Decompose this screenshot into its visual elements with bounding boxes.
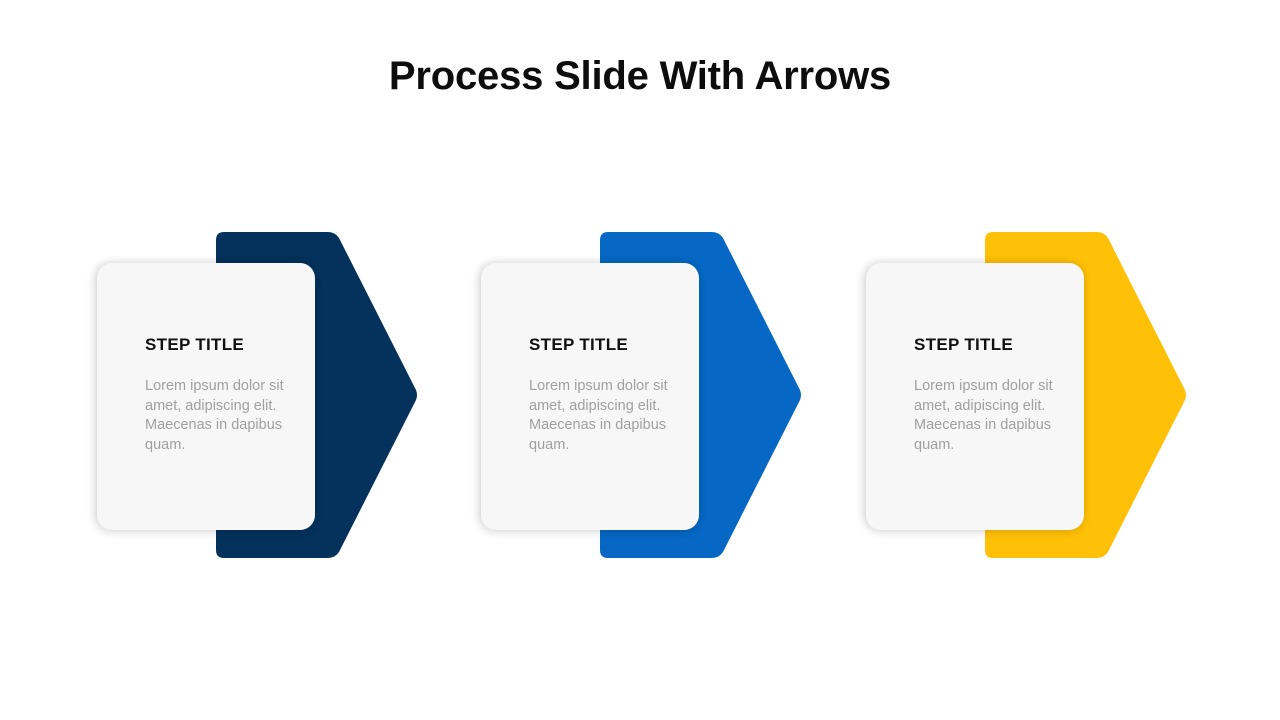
process-steps-group: 01 STEP TITLE Lorem ipsum dolor sit amet… <box>0 0 1280 720</box>
card-content-3: STEP TITLE Lorem ipsum dolor sit amet, a… <box>914 335 1074 455</box>
card-title-1: STEP TITLE <box>145 335 305 355</box>
card-title-2: STEP TITLE <box>529 335 689 355</box>
process-step-3[interactable]: 03 STEP TITLE Lorem ipsum dolor sit amet… <box>769 0 1189 720</box>
step-card-3[interactable]: STEP TITLE Lorem ipsum dolor sit amet, a… <box>866 263 1084 530</box>
process-step-2[interactable]: 02 STEP TITLE Lorem ipsum dolor sit amet… <box>384 0 804 720</box>
card-body-2: Lorem ipsum dolor sit amet, adipiscing e… <box>529 377 677 455</box>
step-card-2[interactable]: STEP TITLE Lorem ipsum dolor sit amet, a… <box>481 263 699 530</box>
step-card-1[interactable]: STEP TITLE Lorem ipsum dolor sit amet, a… <box>97 263 315 530</box>
card-title-3: STEP TITLE <box>914 335 1074 355</box>
card-body-1: Lorem ipsum dolor sit amet, adipiscing e… <box>145 377 293 455</box>
card-content-1: STEP TITLE Lorem ipsum dolor sit amet, a… <box>145 335 305 455</box>
card-body-3: Lorem ipsum dolor sit amet, adipiscing e… <box>914 377 1062 455</box>
card-content-2: STEP TITLE Lorem ipsum dolor sit amet, a… <box>529 335 689 455</box>
slide-canvas: Process Slide With Arrows 01 STEP TITLE … <box>0 0 1280 720</box>
process-step-1[interactable]: 01 STEP TITLE Lorem ipsum dolor sit amet… <box>0 0 420 720</box>
